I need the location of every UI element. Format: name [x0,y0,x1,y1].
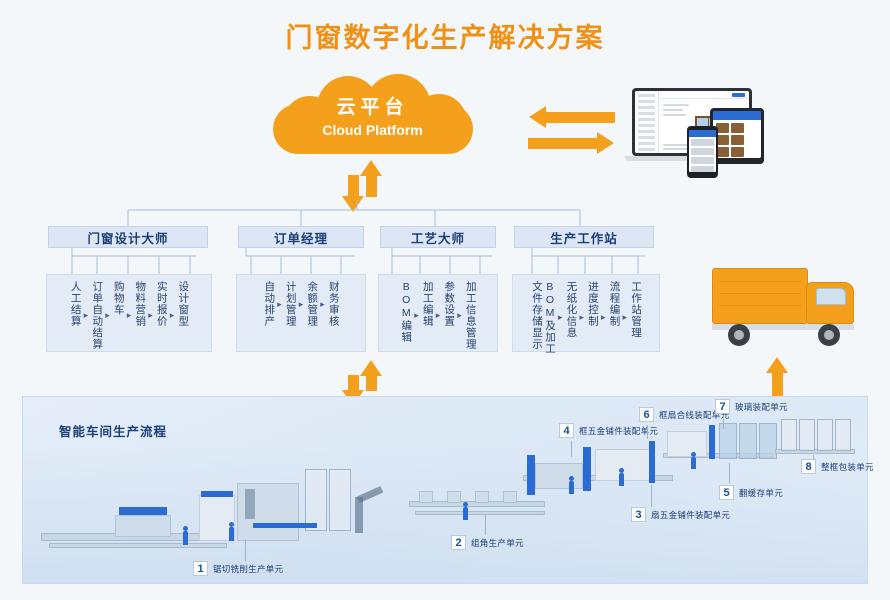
machine-unit [475,491,489,503]
workshop-unit-8[interactable]: 8 整框包装单元 [801,459,874,474]
unit-label: 组角生产单元 [471,537,524,549]
module-3-item-1[interactable]: 参数设置 [442,281,455,350]
arrow-down-icon [348,375,359,391]
machine-unit [503,491,517,503]
machine-unit [709,425,715,459]
page-title: 门窗数字化生产解决方案 [0,16,890,55]
module-4-item-4-line2[interactable]: BOM及加工 [543,281,556,355]
unit-label: 扇五金铺件装配单元 [651,509,730,521]
worker-figure [229,527,234,541]
machine-rail [415,511,545,515]
glass-panel [719,423,737,459]
cloud-label-cn: 云平台 [265,96,480,120]
machine-unit [447,491,461,503]
worker-figure [183,531,188,545]
phone-icon [687,126,718,178]
module-4-item-1[interactable]: 流程编制 [608,281,621,355]
chevron-icon: ▸ [621,312,630,323]
machine-unit [245,489,255,519]
frame-stack [817,419,833,451]
module-body-2: 财务审核▸ 余额管理▸ 计划管理▸ 自动排产 [236,274,366,352]
unit-number: 3 [631,507,646,522]
unit-label: 整框包装单元 [821,461,874,473]
unit-number: 8 [801,459,816,474]
callout-leader [571,441,572,457]
module-2-item-0[interactable]: 财务审核 [327,281,340,327]
worker-figure [619,473,624,486]
machine-unit [667,431,707,457]
module-1-item-2[interactable]: 物料营销 [133,281,146,350]
worker-figure [463,507,468,520]
machine-unit [115,515,171,537]
machine-unit [201,491,233,497]
module-1-item-4[interactable]: 订单自动结算 [90,281,103,350]
module-3-item-2[interactable]: 加工编辑 [421,281,434,350]
callout-leader [485,515,486,535]
module-3-item-3[interactable]: BOM编辑 [399,281,412,350]
unit-label: 锯切铣削生产单元 [213,563,283,575]
module-3-item-0[interactable]: 加工信息管理 [464,281,477,350]
module-4-item-2[interactable]: 进度控制 [586,281,599,355]
module-2-item-1[interactable]: 余额管理 [305,281,318,327]
arrow-up-icon [772,372,783,396]
chevron-icon: ▸ [82,310,91,321]
unit-number: 7 [715,399,730,414]
callout-leader [729,463,730,483]
module-body-4: 工作站管理▸ 流程编制▸ 进度控制▸ 无纸化信息▸ BOM及加工 文件存储显示 [512,274,660,352]
arrow-down-icon [348,175,359,197]
unit-label: 玻璃装配单元 [735,401,788,413]
arrow-up-icon [366,175,377,197]
module-4-item-4-line1[interactable]: 文件存储显示 [530,281,543,355]
laptop-sidebar [635,91,659,153]
callout-leader [245,539,246,561]
chevron-icon: ▸ [412,310,421,321]
solution-diagram: 门窗数字化生产解决方案 云平台 Cloud Platform [0,0,890,600]
module-1-item-0[interactable]: 设计窗型 [176,281,189,350]
tablet-icon [710,108,764,164]
workshop-unit-2[interactable]: 2 组角生产单元 [451,535,524,550]
machine-rail [49,543,227,548]
chevron-icon: ▸ [434,310,443,321]
chevron-icon: ▸ [455,310,464,321]
arrow-left-icon [545,112,615,123]
frame-stack [835,419,851,451]
cloud-label-en: Cloud Platform [265,120,480,140]
machine-unit [535,463,583,489]
unit-label: 翻缓存单元 [739,487,783,499]
machine-unit [649,441,655,483]
chevron-icon: ▸ [599,312,608,323]
unit-number: 2 [451,535,466,550]
workshop-unit-5[interactable]: 5 翻缓存单元 [719,485,783,500]
chevron-icon: ▸ [103,310,112,321]
chevron-icon: ▸ [556,312,565,323]
workshop-unit-3[interactable]: 3 扇五金铺件装配单元 [631,507,730,522]
callout-leader [651,485,652,507]
machine-unit [527,455,535,495]
workshop-title: 智能车间生产流程 [59,421,167,440]
module-header-4[interactable]: 生产工作站 [514,226,654,248]
frame-stack [305,469,327,531]
devices-illustration [632,88,782,166]
module-1-item-1[interactable]: 实时报价 [155,281,168,350]
glass-panel [739,423,757,459]
frame-stack [799,419,815,451]
machine-unit [419,491,433,503]
module-1-item-5[interactable]: 人工结算 [69,281,82,350]
arrow-up-icon [366,375,377,391]
module-body-1: 设计窗型▸ 实时报价▸ 物料营销▸ 购物车▸ 订单自动结算▸ 人工结算 [46,274,212,352]
module-2-item-2[interactable]: 计划管理 [284,281,297,327]
callout-leader [647,425,648,439]
workshop-unit-7[interactable]: 7 玻璃装配单元 [715,399,788,414]
workshop-unit-1[interactable]: 1 锯切铣削生产单元 [193,561,283,576]
worker-figure [691,457,696,469]
cloud-platform-node: 云平台 Cloud Platform [265,74,480,159]
worker-figure [569,481,574,494]
unit-number: 1 [193,561,208,576]
callout-leader [723,415,724,429]
chevron-icon: ▸ [168,310,177,321]
module-2-item-3[interactable]: 自动排产 [262,281,275,327]
module-1-item-3[interactable]: 购物车 [112,281,125,350]
chevron-icon: ▸ [125,310,134,321]
machine-unit [253,523,317,528]
module-body-3: 加工信息管理▸ 参数设置▸ 加工编辑▸ BOM编辑 [378,274,498,352]
frame-stack [329,469,351,531]
arrow-right-icon [528,138,598,149]
laptop-toolbar [659,91,749,99]
frame-stack [781,419,797,451]
unit-number: 5 [719,485,734,500]
delivery-truck-icon [712,262,864,354]
workshop-unit-4[interactable]: 4 框五金铺件装配单元 [559,423,658,438]
workshop-panel: 智能车间生产流程 [22,396,868,584]
unit-number: 6 [639,407,654,422]
module-4-item-3[interactable]: 无纸化信息 [564,281,577,355]
module-header-3[interactable]: 工艺大师 [380,226,496,248]
unit-number: 4 [559,423,574,438]
machine-unit [583,447,591,491]
module-4-item-0[interactable]: 工作站管理 [629,281,642,355]
machine-unit [119,507,167,515]
chevron-icon: ▸ [146,310,155,321]
cloud-label: 云平台 Cloud Platform [265,96,480,140]
chevron-icon: ▸ [275,299,284,310]
module-header-2[interactable]: 订单经理 [238,226,364,248]
chevron-icon: ▸ [318,299,327,310]
chevron-icon: ▸ [577,312,586,323]
chevron-icon: ▸ [297,299,306,310]
module-header-1[interactable]: 门窗设计大师 [48,226,208,248]
